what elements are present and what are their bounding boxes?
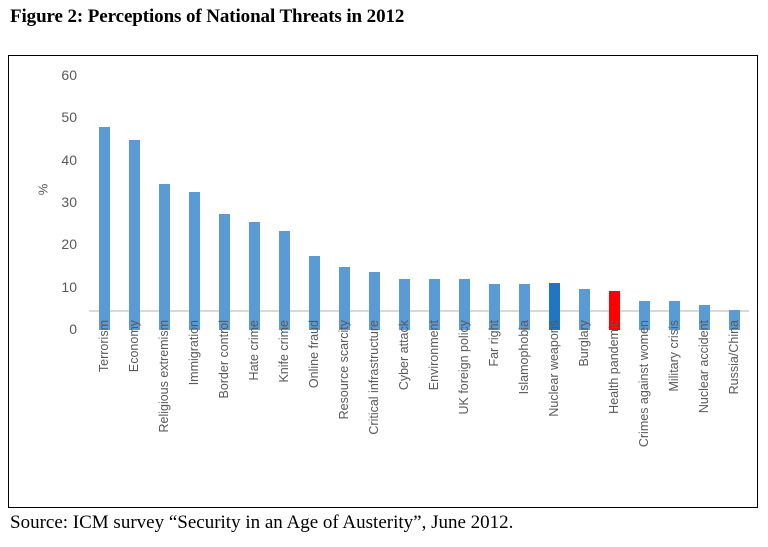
bar[interactable] xyxy=(159,184,170,330)
x-axis-label: Border control xyxy=(218,320,231,399)
bar-slot xyxy=(479,76,509,330)
bar-slot xyxy=(149,76,179,330)
x-axis-label-group: TerrorismEconomyReligious extremismImmig… xyxy=(89,316,749,501)
x-axis-label-slot: Burglary xyxy=(569,316,599,496)
bar-slot xyxy=(239,76,269,330)
x-axis-label: Online fraud xyxy=(308,320,321,388)
chart-frame: % 0102030405060 TerrorismEconomyReligiou… xyxy=(8,55,758,508)
x-axis-label-slot: Religious extremism xyxy=(149,316,179,496)
x-axis-label: Russia/China xyxy=(728,320,741,394)
x-axis-label: Far right xyxy=(488,320,501,367)
x-axis-label-slot: Environment xyxy=(419,316,449,496)
x-axis-label: Nuclear weapons xyxy=(548,320,561,417)
x-axis-label-slot: Resource scarcity xyxy=(329,316,359,496)
bar[interactable] xyxy=(189,192,200,330)
bar[interactable] xyxy=(129,140,140,331)
bar-slot xyxy=(719,76,749,330)
x-axis-label-slot: Nuclear accident xyxy=(689,316,719,496)
x-axis-label: Cyber attack xyxy=(398,320,411,390)
x-axis-label: Crimes against women xyxy=(638,320,651,447)
bar-slot xyxy=(269,76,299,330)
x-axis-label-slot: Hate crime xyxy=(239,316,269,496)
x-axis-label: Military crisis xyxy=(668,320,681,392)
x-axis-label-slot: Russia/China xyxy=(719,316,749,496)
x-axis-label: UK foreign policy xyxy=(458,320,471,415)
x-axis-label-slot: Border control xyxy=(209,316,239,496)
x-axis-label: Immigration xyxy=(188,320,201,385)
y-axis-tick: 60 xyxy=(45,68,77,82)
bar-slot xyxy=(599,76,629,330)
y-axis-tick: 0 xyxy=(45,322,77,336)
x-axis-label-slot: Terrorism xyxy=(89,316,119,496)
source-caption: Source: ICM survey “Security in an Age o… xyxy=(10,512,513,534)
x-axis-label-slot: Far right xyxy=(479,316,509,496)
x-axis-label-slot: Health pandemic xyxy=(599,316,629,496)
bar-slot xyxy=(659,76,689,330)
x-axis-label: Terrorism xyxy=(98,320,111,372)
bar-slot xyxy=(179,76,209,330)
x-axis-label-slot: Islamophobia xyxy=(509,316,539,496)
x-axis-label-slot: Military crisis xyxy=(659,316,689,496)
bar-slot xyxy=(389,76,419,330)
y-axis-tick: 50 xyxy=(45,110,77,124)
x-axis-label: Hate crime xyxy=(248,320,261,380)
bar-slot xyxy=(539,76,569,330)
x-axis-label: Environment xyxy=(428,320,441,390)
x-axis-label-slot: Economy xyxy=(119,316,149,496)
x-axis-label-slot: Critical infrastructure xyxy=(359,316,389,496)
x-axis-label-slot: Cyber attack xyxy=(389,316,419,496)
bar-slot xyxy=(299,76,329,330)
x-axis-label-slot: Immigration xyxy=(179,316,209,496)
x-axis-label: Islamophobia xyxy=(518,320,531,394)
bar-group xyxy=(89,76,749,330)
chart-plot-wrapper: % 0102030405060 TerrorismEconomyReligiou… xyxy=(9,56,757,507)
y-axis-tick: 40 xyxy=(45,153,77,167)
y-axis-tick: 20 xyxy=(45,237,77,251)
bar-slot xyxy=(119,76,149,330)
x-axis-label: Economy xyxy=(128,320,141,372)
bar-slot xyxy=(689,76,719,330)
x-axis-label: Burglary xyxy=(578,320,591,367)
bar-slot xyxy=(569,76,599,330)
x-axis-label: Religious extremism xyxy=(158,320,171,433)
x-axis-label: Critical infrastructure xyxy=(368,320,381,435)
y-axis-tick: 10 xyxy=(45,280,77,294)
x-axis-label: Health pandemic xyxy=(608,320,621,414)
x-axis-label: Resource scarcity xyxy=(338,320,351,419)
x-axis-label-slot: Crimes against women xyxy=(629,316,659,496)
x-axis-label: Nuclear accident xyxy=(698,320,711,413)
bar-slot xyxy=(329,76,359,330)
x-axis-label: Knife crime xyxy=(278,320,291,383)
x-axis-label-slot: Online fraud xyxy=(299,316,329,496)
bar[interactable] xyxy=(99,127,110,330)
bar-slot xyxy=(359,76,389,330)
bar[interactable] xyxy=(249,222,260,330)
bar-slot xyxy=(449,76,479,330)
bar-slot xyxy=(89,76,119,330)
bar-slot xyxy=(629,76,659,330)
y-axis-tick: 30 xyxy=(45,195,77,209)
x-axis-label-slot: UK foreign policy xyxy=(449,316,479,496)
bar-slot xyxy=(419,76,449,330)
bar-slot xyxy=(209,76,239,330)
page-title: Figure 2: Perceptions of National Threat… xyxy=(10,6,404,28)
bar[interactable] xyxy=(219,214,230,330)
bar-slot xyxy=(509,76,539,330)
figure-page: Figure 2: Perceptions of National Threat… xyxy=(0,0,768,547)
x-axis-label-slot: Knife crime xyxy=(269,316,299,496)
plot-area xyxy=(89,76,749,330)
x-axis-label-slot: Nuclear weapons xyxy=(539,316,569,496)
